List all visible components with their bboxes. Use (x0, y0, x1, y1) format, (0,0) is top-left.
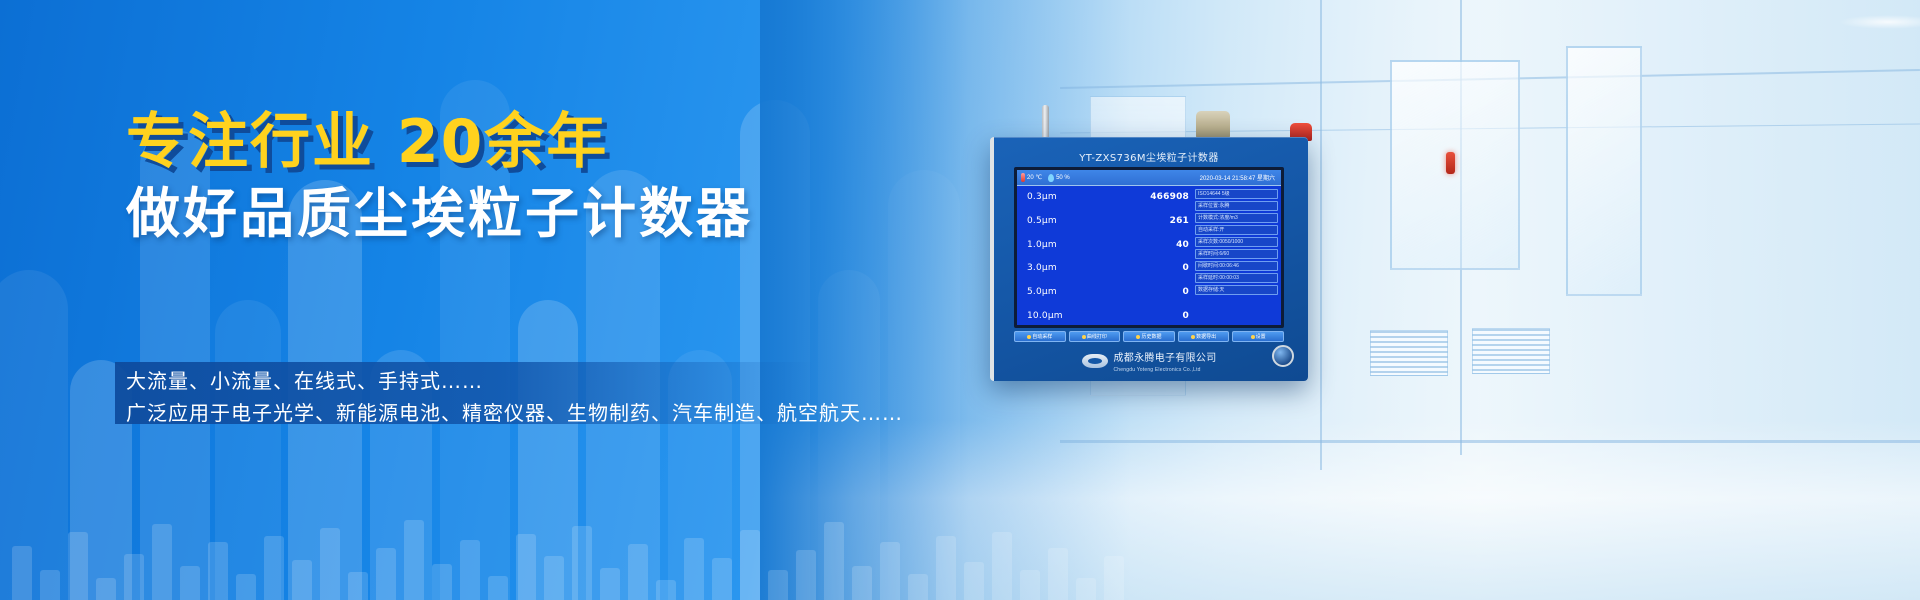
measurement-row: 0.5μm 261 (1027, 216, 1189, 226)
brand-text-group: 成都永腾电子有限公司 Chengdu Yoteng Electronics Co… (1114, 348, 1217, 373)
parameter-chip[interactable]: 计数模式:浓度/m3 (1195, 213, 1278, 223)
particle-size: 10.0μm (1027, 311, 1063, 321)
parameter-chip[interactable]: 自动采样:开 (1195, 225, 1278, 235)
parameter-chip[interactable]: 采样位置:永腾 (1195, 201, 1278, 211)
measurement-row: 1.0μm 40 (1027, 240, 1189, 250)
parameter-chip[interactable]: ISO14644 5级 (1195, 189, 1278, 199)
brand-name: 成都永腾电子有限公司 (1114, 353, 1217, 364)
screen-parameter-panel: ISO14644 5级 采样位置:永腾 计数模式:浓度/m3 自动采样:开 采样… (1195, 186, 1281, 325)
brand-subtitle: Chengdu Yoteng Electronics Co.,Ltd (1114, 367, 1217, 373)
button-label: 自动采样 (1032, 333, 1052, 340)
temperature-indicator: 20 ℃ (1021, 173, 1042, 182)
measurement-row: 5.0μm 0 (1027, 287, 1189, 297)
particle-count: 261 (1170, 216, 1189, 226)
parameter-chip[interactable]: 间歇时间:00:06:46 (1195, 261, 1278, 271)
particle-size: 0.3μm (1027, 192, 1057, 202)
device-button-row: 自动采样 曲线打印 历史数据 数据导出 设置 (1014, 330, 1284, 343)
parameter-chip[interactable]: 采样时间:6/60 (1195, 249, 1278, 259)
feature-text-group: 大流量、小流量、在线式、手持式…… 广泛应用于电子光学、新能源电池、精密仪器、生… (126, 365, 886, 429)
status-dot-icon (1027, 335, 1031, 339)
promotional-banner: 专注行业 20余年 做好品质尘埃粒子计数器 大流量、小流量、在线式、手持式…… … (0, 0, 1920, 600)
feature-line-1: 大流量、小流量、在线式、手持式…… (126, 365, 886, 397)
button-label: 历史数据 (1141, 333, 1161, 340)
particle-count: 40 (1176, 240, 1189, 250)
particle-size: 0.5μm (1027, 216, 1057, 226)
device-screen[interactable]: 20 ℃ 50 % 2020-03-14 21:58:47 星期六 0.3μm … (1014, 167, 1284, 328)
history-data-button[interactable]: 历史数据 (1123, 331, 1175, 342)
device-branding: 成都永腾电子有限公司 Chengdu Yoteng Electronics Co… (990, 348, 1308, 373)
parameter-chip[interactable]: 采样延时:00:00:03 (1195, 273, 1278, 283)
button-label: 数据导出 (1196, 333, 1216, 340)
measurement-row: 10.0μm 0 (1027, 311, 1189, 321)
timestamp: 2020-03-14 21:58:47 星期六 (1200, 173, 1277, 182)
headline-group: 专注行业 20余年 做好品质尘埃粒子计数器 (126, 112, 886, 243)
humidity-indicator: 50 % (1048, 174, 1070, 182)
particle-count: 0 (1183, 287, 1189, 297)
particle-counter-device: YT-ZXS736M尘埃粒子计数器 20 ℃ 50 % 2020-03-14 2… (990, 137, 1308, 381)
headline-primary: 专注行业 20余年 (126, 112, 886, 172)
status-dot-icon (1082, 335, 1086, 339)
measurement-row: 3.0μm 0 (1027, 263, 1189, 273)
particle-count: 0 (1183, 311, 1189, 321)
water-drop-icon (1048, 174, 1054, 182)
antenna-probe-icon (1042, 105, 1049, 141)
gear-icon (1251, 335, 1255, 339)
measurement-list: 0.3μm 466908 0.5μm 261 1.0μm 40 3.0μm 0 (1017, 186, 1195, 325)
button-label: 曲线打印 (1087, 333, 1107, 340)
screen-status-bar: 20 ℃ 50 % 2020-03-14 21:58:47 星期六 (1017, 170, 1281, 186)
particle-size: 3.0μm (1027, 263, 1057, 273)
humidity-value: 50 % (1056, 175, 1070, 181)
parameter-chip[interactable]: 采样次数:0050/1000 (1195, 237, 1278, 247)
particle-size: 5.0μm (1027, 287, 1057, 297)
temperature-value: 20 ℃ (1027, 174, 1042, 181)
headline-secondary: 做好品质尘埃粒子计数器 (126, 186, 886, 243)
screen-body: 0.3μm 466908 0.5μm 261 1.0μm 40 3.0μm 0 (1017, 186, 1281, 325)
power-knob[interactable] (1272, 345, 1294, 367)
particle-count: 466908 (1150, 192, 1189, 202)
auto-sampling-button[interactable]: 自动采样 (1014, 331, 1066, 342)
yoteng-logo-icon (1082, 354, 1108, 368)
status-dot-icon (1191, 335, 1195, 339)
particle-size: 1.0μm (1027, 240, 1057, 250)
thermometer-icon (1021, 173, 1025, 182)
data-export-button[interactable]: 数据导出 (1178, 331, 1230, 342)
particle-count: 0 (1183, 263, 1189, 273)
status-dot-icon (1136, 335, 1140, 339)
button-label: 设置 (1256, 333, 1266, 340)
feature-line-2: 广泛应用于电子光学、新能源电池、精密仪器、生物制药、汽车制造、航空航天…… (126, 397, 886, 429)
measurement-row: 0.3μm 466908 (1027, 192, 1189, 202)
decorative-equalizer-strip (0, 450, 1130, 600)
settings-button[interactable]: 设置 (1232, 331, 1284, 342)
parameter-chip[interactable]: 数据存储:天 (1195, 285, 1278, 295)
curve-print-button[interactable]: 曲线打印 (1069, 331, 1121, 342)
device-model-label: YT-ZXS736M尘埃粒子计数器 (990, 149, 1308, 164)
